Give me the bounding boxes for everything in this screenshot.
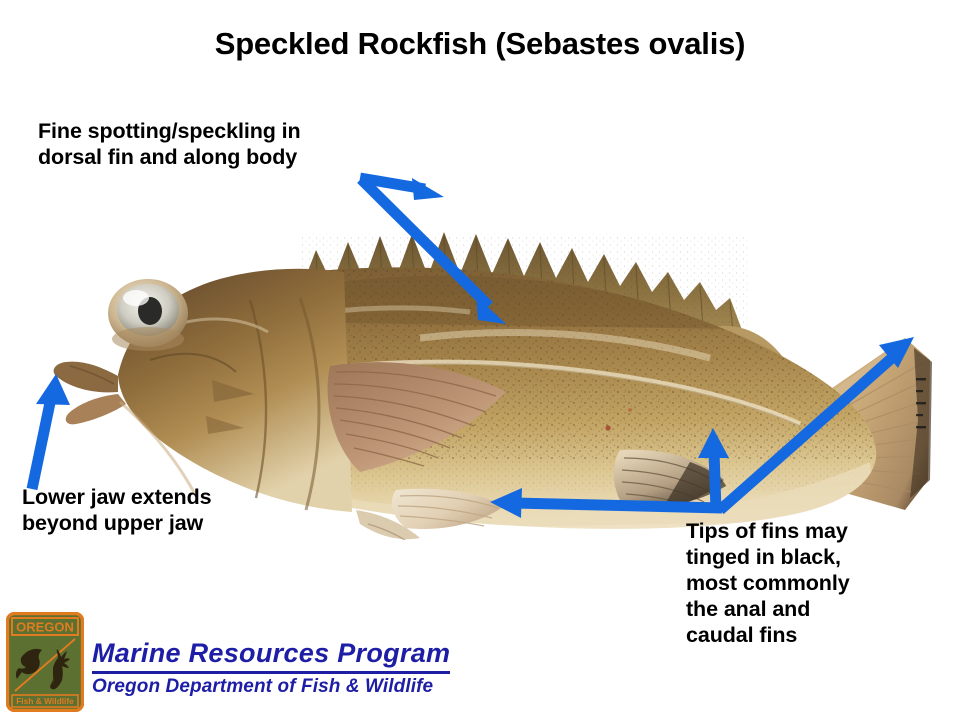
- oregon-fish-and-wildlife-logo: OREGON Fish & Wildlife: [6, 612, 84, 712]
- program-name: Marine Resources Program: [92, 638, 450, 674]
- eye: [108, 279, 188, 351]
- slide-canvas: Speckled Rockfish (Sebastes ovalis): [0, 0, 960, 720]
- logo-top-label: OREGON: [16, 619, 74, 634]
- page-title: Speckled Rockfish (Sebastes ovalis): [0, 26, 960, 62]
- callout-fin-tips: Tips of fins may tinged in black, most c…: [686, 518, 850, 648]
- department-name: Oregon Department of Fish & Wildlife: [92, 676, 433, 698]
- callout-dorsal-speckling: Fine spotting/speckling in dorsal fin an…: [38, 118, 301, 170]
- logo-bottom-label: Fish & Wildlife: [16, 696, 74, 706]
- callout-lower-jaw: Lower jaw extends beyond upper jaw: [22, 484, 211, 536]
